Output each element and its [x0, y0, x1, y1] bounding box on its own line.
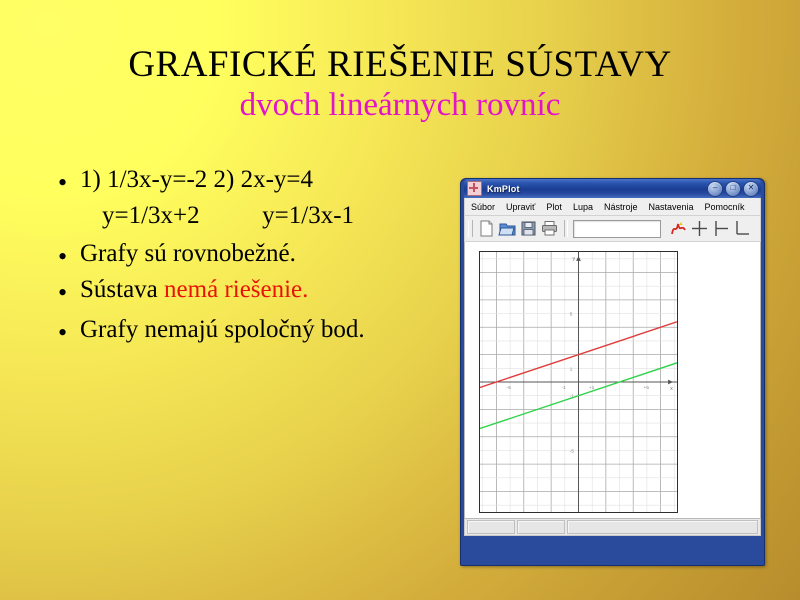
tool-bar[interactable]	[464, 216, 761, 242]
list-item: • Sústava nemá riešenie.	[58, 276, 478, 306]
slide-title-block: GRAFICKÉ RIEŠENIE SÚSTAVY dvoch lineárny…	[0, 46, 800, 123]
equation-solved-line: y=1/3x+2 y=1/3x-1	[102, 202, 478, 230]
svg-text:1: 1	[570, 366, 573, 372]
toolbar-grip[interactable]	[468, 220, 473, 237]
close-icon: ✕	[744, 182, 758, 196]
svg-text:-5: -5	[570, 448, 575, 454]
status-panel-2	[517, 520, 565, 534]
status-panel-3	[567, 520, 758, 534]
bullet-glyph-icon: •	[58, 166, 80, 196]
plot-frame[interactable]: yx-5-1+1+5-5-115	[479, 251, 678, 513]
bullet-glyph-icon: •	[58, 240, 80, 270]
kmplot-window[interactable]: KmPlot – □ ✕ Súbor Upraviť Plot Lupa Nás…	[460, 178, 765, 566]
menu-nastavenia[interactable]: Nastavenia	[648, 202, 693, 212]
print-icon[interactable]	[540, 219, 559, 238]
close-button[interactable]: ✕	[743, 181, 759, 197]
menu-bar[interactable]: Súbor Upraviť Plot Lupa Nástroje Nastave…	[464, 198, 761, 216]
bullet-list: • 1) 1/3x-y=-2 2) 2x-y=4 y=1/3x+2 y=1/3x…	[58, 166, 478, 352]
svg-text:5: 5	[570, 312, 573, 318]
new-document-icon[interactable]	[477, 219, 496, 238]
svg-text:-1: -1	[561, 385, 566, 391]
menu-nastroje[interactable]: Nástroje	[604, 202, 638, 212]
menu-subor[interactable]: Súbor	[471, 202, 495, 212]
menu-plot[interactable]: Plot	[546, 202, 562, 212]
list-item: • Grafy sú rovnobežné.	[58, 240, 478, 270]
plot-area[interactable]: yx-5-1+1+5-5-115	[464, 242, 761, 519]
list-item: • 1) 1/3x-y=-2 2) 2x-y=4	[58, 166, 478, 196]
save-floppy-icon[interactable]	[519, 219, 538, 238]
bullet-glyph-icon: •	[58, 316, 80, 346]
kmplot-app-icon	[467, 181, 482, 196]
svg-text:-5: -5	[507, 385, 512, 391]
window-titlebar[interactable]: KmPlot – □ ✕	[464, 179, 761, 198]
list-item: • Grafy nemajú spoločný bod.	[58, 316, 478, 346]
axes-quadrant-icon[interactable]	[732, 219, 751, 238]
bullet-glyph-icon: •	[58, 276, 80, 306]
equation-system-line: 1) 1/3x-y=-2 2) 2x-y=4	[80, 166, 313, 194]
axes-full-icon[interactable]	[690, 219, 709, 238]
menu-upravit[interactable]: Upraviť	[506, 202, 535, 212]
page-subtitle: dvoch lineárnych rovníc	[0, 87, 800, 123]
status-panel-1	[467, 520, 515, 534]
window-title: KmPlot	[487, 184, 705, 194]
coordinate-plot[interactable]: yx-5-1+1+5-5-115	[480, 252, 677, 512]
open-folder-icon[interactable]	[498, 219, 517, 238]
menu-lupa[interactable]: Lupa	[573, 202, 593, 212]
page-title: GRAFICKÉ RIEŠENIE SÚSTAVY	[0, 46, 800, 85]
menu-pomocnik[interactable]: Pomocník	[705, 202, 745, 212]
svg-text:+5: +5	[643, 385, 649, 391]
maximize-button[interactable]: □	[725, 181, 741, 197]
status-bar	[464, 519, 761, 536]
toolbar-separator	[564, 220, 568, 237]
conclusion-no-solution-prefix: Sústava	[80, 276, 164, 303]
maximize-icon: □	[726, 182, 740, 196]
conclusion-no-common-point: Grafy nemajú spoločný bod.	[80, 316, 365, 344]
minimize-button[interactable]: –	[707, 181, 723, 197]
conclusion-no-solution-highlight: nemá riešenie.	[164, 276, 308, 303]
minimize-icon: –	[708, 182, 722, 196]
svg-text:x: x	[670, 386, 673, 392]
function-input[interactable]	[573, 220, 661, 238]
conclusion-parallel: Grafy sú rovnobežné.	[80, 240, 296, 268]
axes-right-icon[interactable]	[711, 219, 730, 238]
slide-canvas: GRAFICKÉ RIEŠENIE SÚSTAVY dvoch lineárny…	[0, 0, 800, 600]
plot-function-icon[interactable]	[669, 219, 688, 238]
conclusion-no-solution: Sústava nemá riešenie.	[80, 276, 308, 304]
svg-text:y: y	[573, 256, 576, 262]
